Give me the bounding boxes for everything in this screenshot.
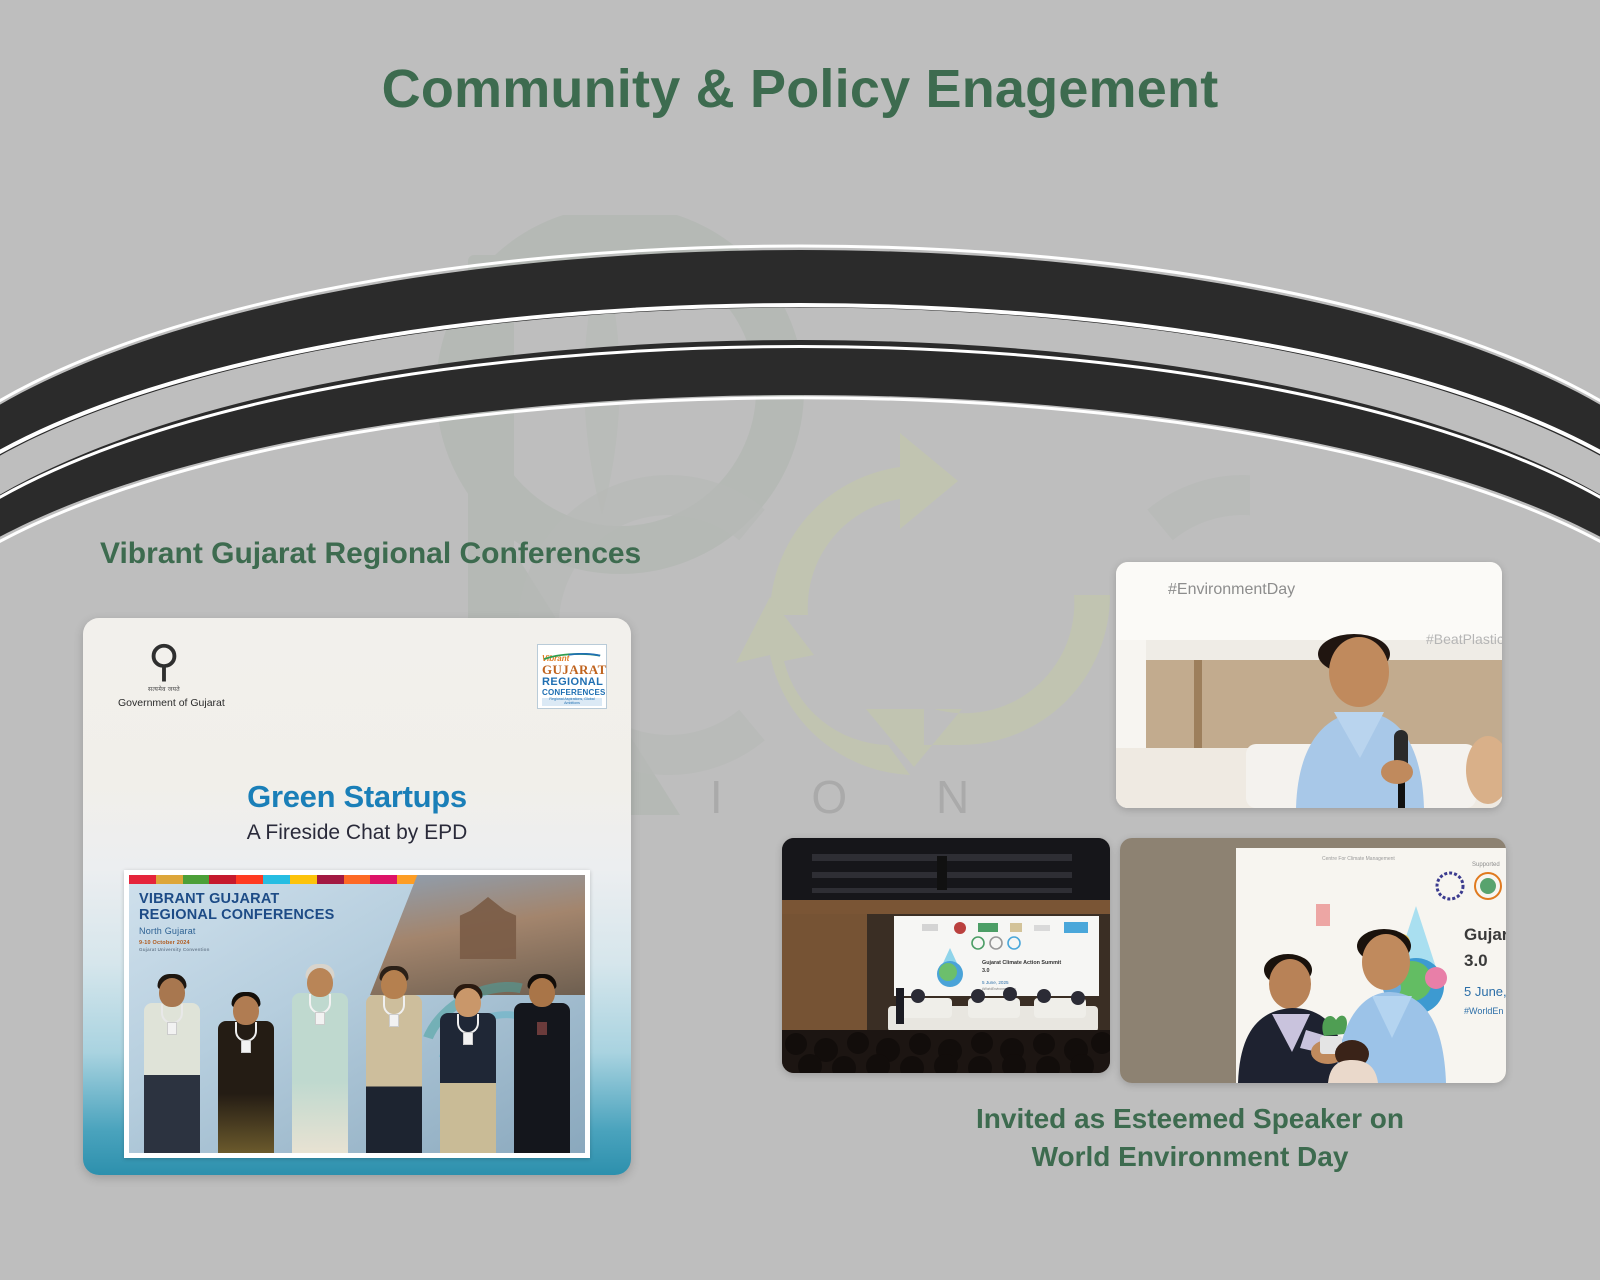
svg-text:Centre For Climate Management: Centre For Climate Management xyxy=(1322,856,1395,862)
photo-speaker-with-microphone[interactable]: #EnvironmentDay #BeatPlastic xyxy=(1116,562,1502,808)
photo-conference-hall-audience[interactable]: Gujarat Climate Action Summit 3.0 5 June… xyxy=(782,838,1110,1073)
vibrant-gujarat-logo: Vibrant GUJARAT REGIONAL CONFERENCES Reg… xyxy=(537,644,607,709)
svg-text:5 June,: 5 June, xyxy=(1464,984,1506,999)
caption-line-2: World Environment Day xyxy=(880,1138,1500,1176)
slide-card-green-startups[interactable]: ⚲ सत्यमेव जयते Government of Gujarat Vib… xyxy=(83,618,631,1175)
section-label-vibrant-gujarat: Vibrant Gujarat Regional Conferences xyxy=(100,537,641,571)
backdrop-text: VIBRANT GUJARAT REGIONAL CONFERENCES Nor… xyxy=(139,891,334,952)
logo-line-conferences: CONFERENCES xyxy=(542,689,602,697)
logo-line-gujarat: GUJARAT xyxy=(542,663,602,677)
backdrop-region: North Gujarat xyxy=(139,926,334,936)
person-1 xyxy=(142,978,202,1153)
slide-title: Green Startups xyxy=(83,779,631,815)
backdrop-line-1: VIBRANT GUJARAT xyxy=(139,891,334,907)
curved-road-arc xyxy=(0,230,1600,560)
photo-sapling-felicitation[interactable]: Centre For Climate Management Supported … xyxy=(1120,838,1506,1083)
logo-line-regional: REGIONAL xyxy=(542,677,602,689)
emblem-caption: Government of Gujarat xyxy=(118,697,186,709)
svg-text:3.0: 3.0 xyxy=(982,968,990,974)
swoosh-icon xyxy=(542,648,602,655)
caption-world-environment-day: Invited as Esteemed Speaker on World Env… xyxy=(880,1100,1500,1176)
svg-text:#WorldEn: #WorldEn xyxy=(1464,1006,1503,1016)
ashoka-lion-capital-icon: ⚲ xyxy=(130,640,198,684)
people-group xyxy=(129,948,585,1153)
person-3 xyxy=(290,968,350,1153)
caption-line-1: Invited as Esteemed Speaker on xyxy=(880,1100,1500,1138)
backdrop-line-2: REGIONAL CONFERENCES xyxy=(139,907,334,923)
svg-text:Supported: Supported xyxy=(1472,862,1500,868)
svg-text:3.0: 3.0 xyxy=(1464,951,1488,970)
slide-subtitle: A Fireside Chat by EPD xyxy=(83,821,631,845)
svg-text:#BeatPlastic: #BeatPlastic xyxy=(1426,631,1502,647)
person-5 xyxy=(438,988,498,1153)
logo-tagline: Regional Aspirations, Global Ambitions xyxy=(542,698,602,706)
person-4 xyxy=(364,970,424,1153)
person-2 xyxy=(216,996,276,1153)
svg-text:Gujara: Gujara xyxy=(1464,925,1506,944)
person-6 xyxy=(512,978,572,1153)
page-title: Community & Policy Enagement xyxy=(0,58,1600,120)
svg-text:Gujarat Climate Action Summit: Gujarat Climate Action Summit xyxy=(982,960,1061,966)
government-emblem: ⚲ सत्यमेव जयते Government of Gujarat xyxy=(130,640,198,709)
group-photo-vibrant-gujarat: VIBRANT GUJARAT REGIONAL CONFERENCES Nor… xyxy=(129,875,585,1153)
svg-text:5 June, 2025: 5 June, 2025 xyxy=(982,980,1009,985)
emblem-motto: सत्यमेव जयते xyxy=(130,685,198,693)
backdrop-dates: 9-10 October 2024 xyxy=(139,940,334,946)
svg-text:#EnvironmentDay: #EnvironmentDay xyxy=(1168,581,1295,598)
group-photo-frame: VIBRANT GUJARAT REGIONAL CONFERENCES Nor… xyxy=(124,870,590,1158)
